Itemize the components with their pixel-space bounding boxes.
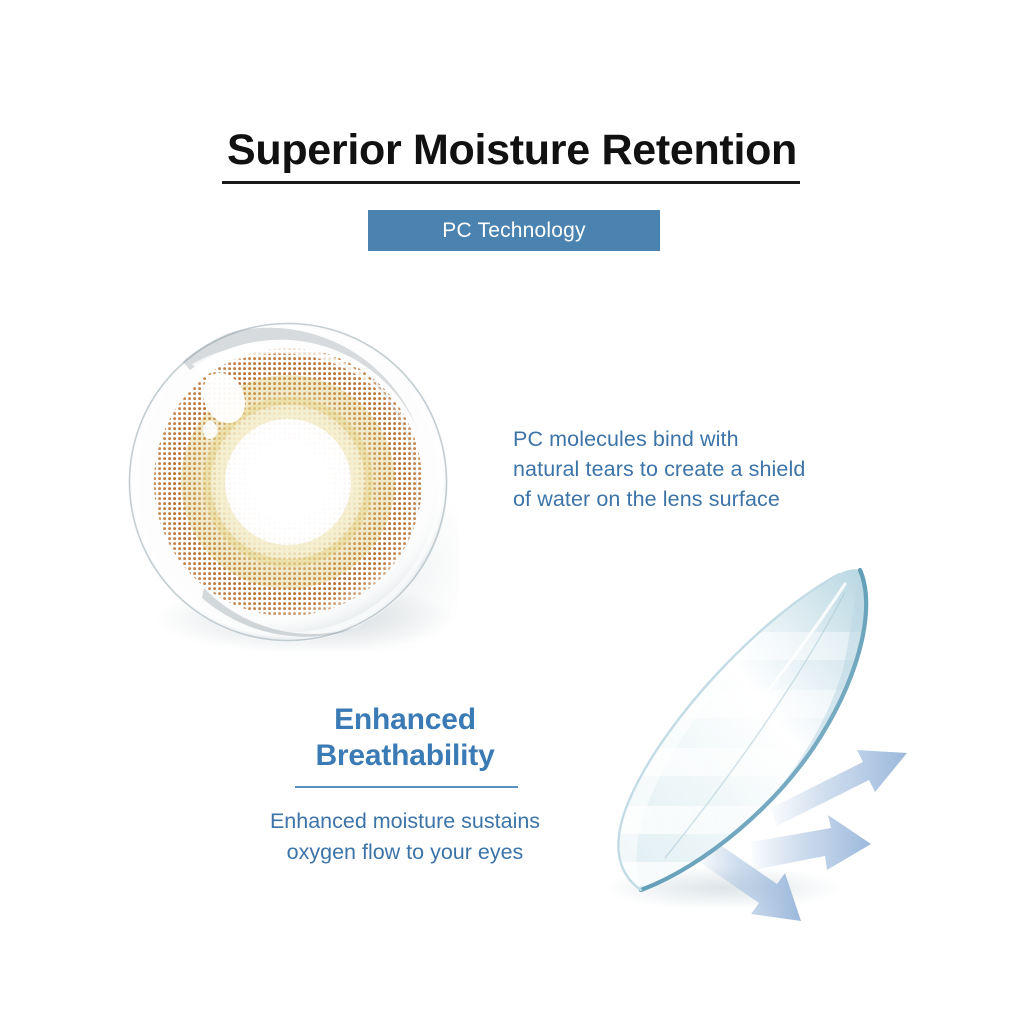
pc-technology-badge-label: PC Technology — [442, 219, 585, 243]
pc-copy-line-2: natural tears to create a shield — [513, 454, 873, 484]
title-underline-divider — [222, 181, 800, 184]
page-title: Superior Moisture Retention — [0, 128, 1024, 173]
breathability-copy-line-2: oxygen flow to your eyes — [185, 837, 625, 868]
breathability-description: Enhanced moisture sustains oxygen flow t… — [185, 806, 625, 868]
pc-technology-badge: PC Technology — [368, 210, 660, 251]
oxygen-arrow-middle — [751, 815, 871, 870]
contact-lens-photo — [118, 312, 458, 652]
breathability-divider — [295, 786, 518, 788]
poster-canvas: Superior Moisture Retention PC Technolog… — [0, 0, 1024, 1024]
pc-copy-line-3: of water on the lens surface — [513, 484, 873, 514]
pc-molecules-description: PC molecules bind with natural tears to … — [513, 424, 873, 514]
breathability-heading-line-2: Breathability — [185, 738, 625, 774]
breathability-copy-line-1: Enhanced moisture sustains — [185, 806, 625, 837]
breathability-heading-line-1: Enhanced — [185, 702, 625, 738]
pc-copy-line-1: PC molecules bind with — [513, 424, 873, 454]
breathability-heading: Enhanced Breathability — [185, 702, 625, 774]
